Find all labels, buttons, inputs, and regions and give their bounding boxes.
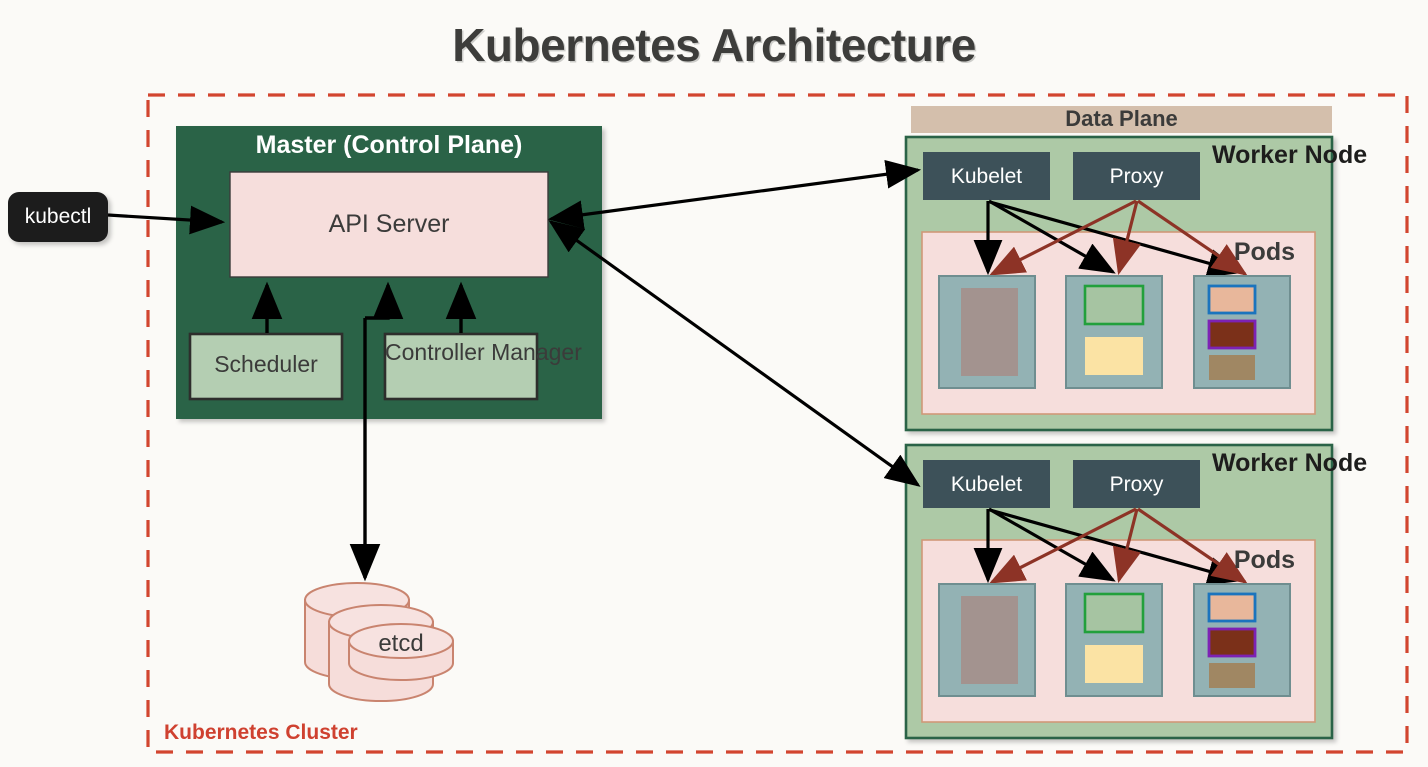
worker-node-1-pod-2-container-1 <box>1085 286 1143 324</box>
worker-node-2-pods-label: Pods <box>1140 546 1295 574</box>
worker-node-2-proxy-label[interactable]: Proxy <box>1073 473 1200 497</box>
worker-node-2-pod-3-container-1 <box>1209 594 1255 621</box>
diagram-canvas: Kubernetes Architecture <box>0 0 1428 767</box>
arrow-api-to-worker-node-2 <box>551 222 918 485</box>
kubectl-label[interactable]: kubectl <box>8 205 108 229</box>
worker-node-1-pod-3-container-1 <box>1209 286 1255 313</box>
worker-node-1-kubelet-label[interactable]: Kubelet <box>923 165 1050 189</box>
worker-node-1-pods-label: Pods <box>1140 238 1295 266</box>
etcd-label: etcd <box>349 631 453 658</box>
worker-node-1-pod-3-container-3 <box>1209 355 1255 380</box>
scheduler-label: Scheduler <box>190 352 342 378</box>
worker-node-2-pod-2-container-2 <box>1085 645 1143 683</box>
arrow-api-to-worker-node-1 <box>551 170 918 219</box>
worker-node-2-kubelet-label[interactable]: Kubelet <box>923 473 1050 497</box>
controller-manager-label: Controller Manager <box>385 340 537 366</box>
worker-node-1-proxy-label[interactable]: Proxy <box>1073 165 1200 189</box>
worker-node-2-pod-3-container-2 <box>1209 629 1255 656</box>
worker-node-1-pod-2-container-2 <box>1085 337 1143 375</box>
worker-node-1-pod-3-container-2 <box>1209 321 1255 348</box>
master-control-plane-title: Master (Control Plane) <box>176 131 602 159</box>
worker-node-2-pod-1-container-1 <box>961 596 1018 684</box>
api-server-label: API Server <box>230 210 548 238</box>
worker-node-1-label: Worker Node <box>1212 141 1319 169</box>
worker-node-2-pod-2-container-1 <box>1085 594 1143 632</box>
kubernetes-cluster-label: Kubernetes Cluster <box>164 721 358 745</box>
worker-node-1-pod-1-container-1 <box>961 288 1018 376</box>
worker-node-2-pod-3-container-3 <box>1209 663 1255 688</box>
worker-node-2-label: Worker Node <box>1212 449 1319 477</box>
data-plane-label: Data Plane <box>911 107 1332 132</box>
